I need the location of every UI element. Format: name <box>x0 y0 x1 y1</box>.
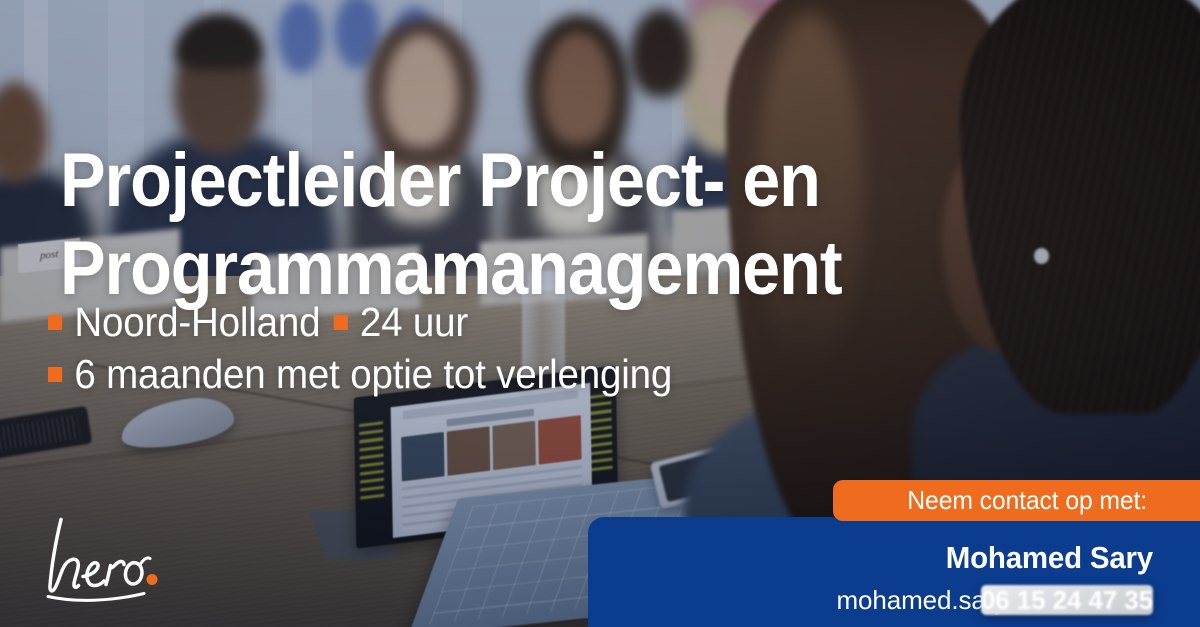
meta-location: Noord-Holland <box>74 296 320 348</box>
job-meta-list: Noord-Holland 24 uur 6 maanden met optie… <box>48 296 672 400</box>
meta-row-1: Noord-Holland 24 uur <box>48 296 672 348</box>
meta-row-2: 6 maanden met optie tot verlenging <box>48 348 672 400</box>
contact-badge: Neem contact op met: <box>833 480 1200 521</box>
contact-badge-label: Neem contact op met: <box>907 485 1147 516</box>
page-title: Projectleider Project- en Programmamanag… <box>60 137 1041 313</box>
contact-details-row: mohamed.sary@hero.eu 06 15 24 47 35 <box>588 585 1153 615</box>
meta-duration: 6 maanden met optie tot verlenging <box>74 348 672 400</box>
bullet-square-icon <box>334 315 348 330</box>
hero-logo[interactable] <box>30 509 175 605</box>
meta-hours: 24 uur <box>360 296 468 348</box>
contact-card: Mohamed Sary mohamed.sary@hero.eu 06 15 … <box>588 517 1200 627</box>
headline-line-1: Projectleider Project- en <box>60 137 1041 225</box>
contact-name: Mohamed Sary <box>616 541 1153 575</box>
contact-phone[interactable]: 06 15 24 47 35 <box>981 585 1153 615</box>
job-vacancy-banner: post <box>0 0 1200 627</box>
bullet-square-icon <box>48 315 62 330</box>
bullet-square-icon <box>48 367 62 382</box>
logo-dot-icon <box>147 574 158 585</box>
